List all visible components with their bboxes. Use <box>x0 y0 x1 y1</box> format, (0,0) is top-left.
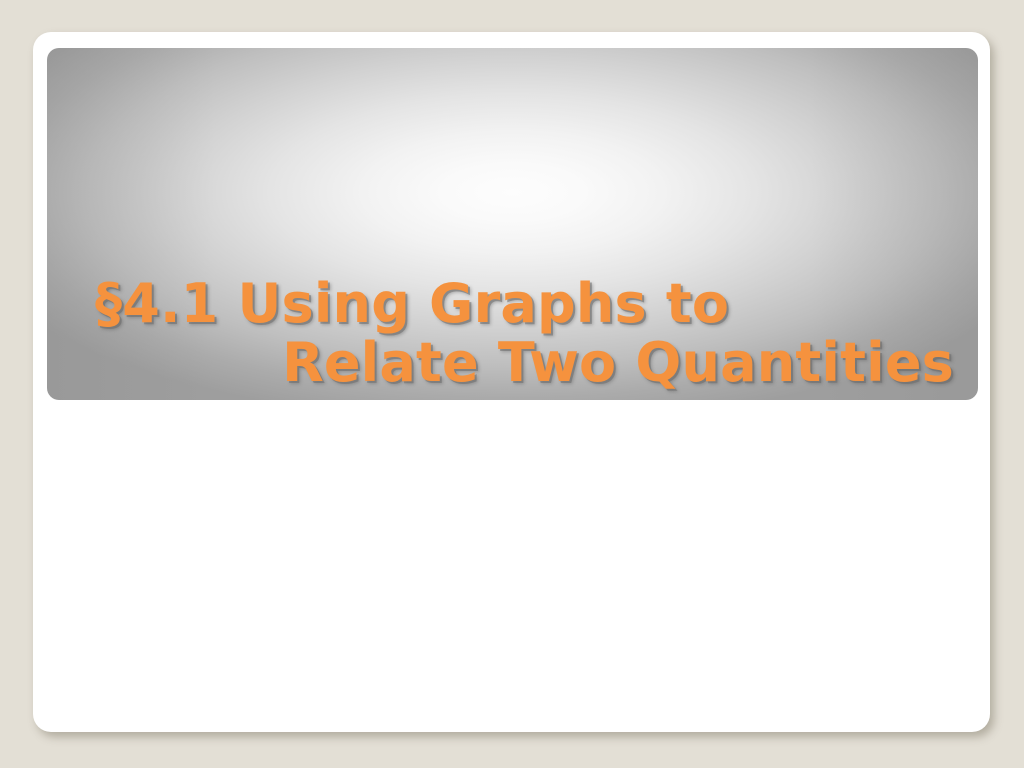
title-line-1: §4.1 Using Graphs to <box>65 275 960 333</box>
slide-content-area <box>47 402 978 716</box>
title-banner: §4.1 Using Graphs to Relate Two Quantiti… <box>47 48 978 400</box>
slide-root: §4.1 Using Graphs to Relate Two Quantiti… <box>0 0 1024 768</box>
page-title: §4.1 Using Graphs to Relate Two Quantiti… <box>47 275 978 392</box>
title-line-2: Relate Two Quantities <box>65 334 960 392</box>
slide-card: §4.1 Using Graphs to Relate Two Quantiti… <box>33 32 990 732</box>
